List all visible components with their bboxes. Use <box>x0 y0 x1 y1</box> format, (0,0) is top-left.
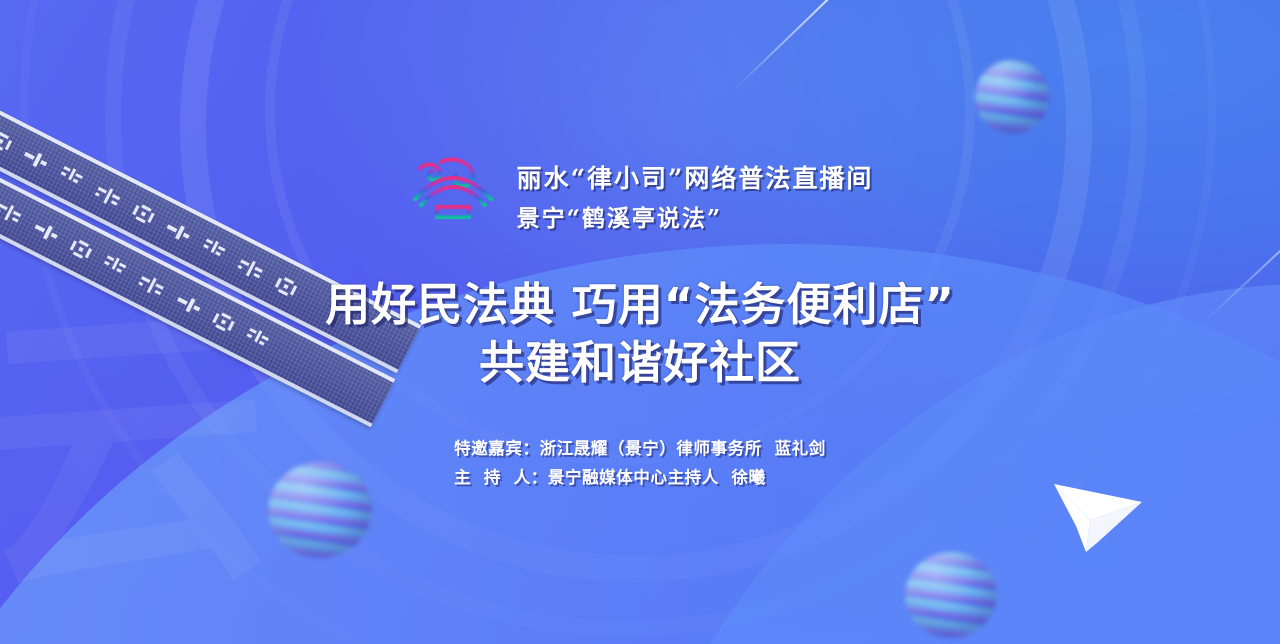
livestream-title-card: 云 <box>0 0 1280 644</box>
title-card-content: 丽水“律小司”网络普法直播间 景宁“鹤溪亭说法” 用好民法典 巧用“法务便利店”… <box>0 0 1280 493</box>
credits-guest: 特邀嘉宾：浙江晟耀（景宁）律师事务所 蓝礼剑 <box>454 434 826 463</box>
program-header-line-2: 景宁“鹤溪亭说法” <box>517 199 874 233</box>
page-title: 用好民法典 巧用“法务便利店” 共建和谐好社区 <box>325 276 955 392</box>
program-header: 丽水“律小司”网络普法直播间 景宁“鹤溪亭说法” <box>407 152 874 240</box>
program-header-line-1: 丽水“律小司”网络普法直播间 <box>517 159 874 195</box>
heximating-pavilion-logo-icon <box>407 152 499 240</box>
credits-block: 特邀嘉宾：浙江晟耀（景宁）律师事务所 蓝礼剑 主 持 人：景宁融媒体中心主持人 … <box>454 434 826 493</box>
page-title-line-2: 共建和谐好社区 <box>325 334 955 392</box>
page-title-line-1: 用好民法典 巧用“法务便利店” <box>325 276 955 334</box>
credits-host: 主 持 人：景宁融媒体中心主持人 徐曦 <box>454 463 826 492</box>
program-header-lines: 丽水“律小司”网络普法直播间 景宁“鹤溪亭说法” <box>517 159 874 233</box>
